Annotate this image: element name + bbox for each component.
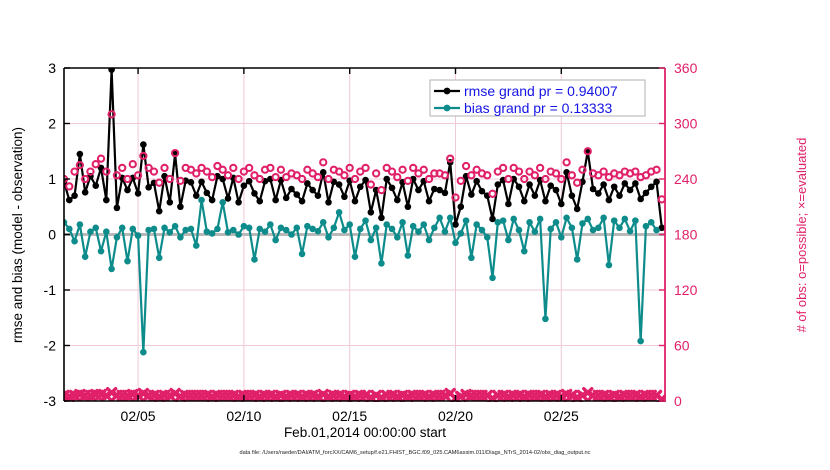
data-point (352, 253, 359, 260)
data-point (648, 183, 655, 190)
data-point (405, 252, 412, 259)
data-point (241, 182, 248, 189)
data-point (82, 253, 89, 260)
data-point (553, 219, 560, 226)
data-point (71, 238, 78, 245)
data-point (325, 199, 332, 206)
y-axis-label-right: # of obs: o=possible; ×=evaluated (794, 138, 809, 333)
data-point (272, 237, 279, 244)
data-point (442, 190, 449, 197)
data-point (145, 184, 152, 191)
data-point (632, 217, 639, 224)
data-point (336, 209, 343, 216)
data-point (315, 228, 322, 235)
data-point (368, 209, 375, 216)
data-point (547, 226, 554, 233)
data-point (193, 192, 200, 199)
data-point (209, 197, 216, 204)
data-point (574, 206, 581, 213)
data-point (616, 192, 623, 199)
data-point (124, 187, 131, 194)
data-point (251, 256, 258, 263)
data-point (590, 186, 597, 193)
data-point (621, 180, 628, 187)
data-point (103, 228, 110, 235)
data-point (479, 188, 486, 195)
data-point (431, 225, 438, 232)
data-point (140, 141, 147, 148)
data-point (193, 242, 200, 249)
data-point (293, 225, 300, 232)
data-point (352, 198, 359, 205)
data-point (336, 181, 343, 188)
data-point (447, 215, 454, 222)
data-point (378, 260, 385, 267)
data-point (267, 221, 274, 228)
data-point (373, 225, 380, 232)
data-point (606, 262, 613, 269)
data-point (463, 217, 470, 224)
data-point (595, 225, 602, 232)
data-point (579, 220, 586, 227)
data-point (479, 227, 486, 234)
data-point (246, 178, 253, 185)
data-point (167, 229, 174, 236)
x-axis-label: Feb.01,2014 00:00:00 start (284, 425, 446, 440)
y-tick-label-left: -2 (44, 338, 57, 354)
data-point (547, 182, 554, 189)
data-point (389, 226, 396, 233)
data-point (341, 193, 348, 200)
data-point (82, 189, 89, 196)
data-point (426, 237, 433, 244)
y-tick-label-right: 120 (674, 282, 698, 298)
data-point (357, 226, 364, 233)
data-point (214, 226, 221, 233)
footer-data-file: data file: /Users/raeder/DAI/ATM_forcXX/… (240, 450, 591, 456)
data-point (627, 228, 634, 235)
observation-diagnostics-figure: Southern Hemisphere 14493 / 14580 = 99.4… (0, 0, 830, 470)
data-point (124, 258, 131, 265)
data-point (383, 221, 390, 228)
data-point (500, 217, 507, 224)
data-point (452, 240, 459, 247)
data-point (653, 178, 660, 185)
data-point (151, 226, 158, 233)
data-point (542, 198, 549, 205)
data-point (331, 225, 338, 232)
y-tick-label-right: 180 (674, 227, 698, 243)
data-point (108, 266, 115, 273)
data-point (563, 215, 570, 222)
data-point (532, 228, 539, 235)
data-point (103, 197, 110, 204)
data-point (473, 178, 480, 185)
data-point (320, 219, 327, 226)
x-tick-label: 02/25 (544, 408, 579, 424)
x-tick-label: 02/10 (226, 408, 261, 424)
data-point (77, 221, 84, 228)
x-tick-label: 02/20 (438, 408, 473, 424)
data-point (553, 187, 560, 194)
data-point (177, 203, 184, 210)
legend[interactable]: rmse grand pr = 0.94007bias grand pr = 0… (430, 80, 645, 116)
data-point (198, 178, 205, 185)
x-tick-label: 02/05 (121, 408, 156, 424)
data-point (288, 231, 295, 238)
data-point (600, 215, 607, 222)
data-point (129, 226, 136, 233)
data-point (98, 248, 105, 255)
data-point (489, 274, 496, 281)
data-point (92, 225, 99, 232)
data-point (114, 234, 121, 241)
data-point (569, 192, 576, 199)
data-point (209, 230, 216, 237)
legend-marker-1 (444, 105, 451, 112)
data-point (299, 251, 306, 258)
data-point (505, 201, 512, 208)
data-point (653, 227, 660, 234)
data-point (521, 198, 528, 205)
y-tick-label-right: 60 (674, 338, 690, 354)
data-point (410, 223, 417, 230)
data-point (526, 219, 533, 226)
data-point (521, 248, 528, 255)
data-point (436, 215, 443, 222)
data-point (606, 197, 613, 204)
data-point (473, 221, 480, 228)
data-point (600, 181, 607, 188)
data-point (643, 190, 650, 197)
data-point (87, 228, 94, 235)
data-point (235, 231, 242, 238)
data-point (611, 217, 618, 224)
data-point (135, 190, 142, 197)
data-point (516, 183, 523, 190)
data-point (484, 234, 491, 241)
data-point (569, 225, 576, 232)
data-point (383, 176, 390, 183)
data-point (325, 234, 332, 241)
data-point (156, 255, 163, 262)
data-point (537, 216, 544, 223)
data-point (272, 197, 279, 204)
data-point (172, 223, 179, 230)
data-point (188, 179, 195, 186)
data-point (198, 197, 205, 204)
data-point (558, 234, 565, 241)
data-point (378, 215, 385, 222)
data-point (616, 225, 623, 232)
data-point (92, 182, 99, 189)
data-point (262, 228, 269, 235)
data-point (251, 190, 258, 197)
data-point (399, 219, 406, 226)
data-point (505, 237, 512, 244)
data-point (595, 190, 602, 197)
data-point (225, 195, 232, 202)
data-point (77, 151, 84, 158)
y-tick-label-right: 240 (674, 171, 698, 187)
data-point (637, 338, 644, 345)
legend-label-1[interactable]: bias grand pr = 0.13333 (464, 100, 612, 116)
legend-label-0[interactable]: rmse grand pr = 0.94007 (464, 83, 618, 99)
legend-marker-0 (444, 88, 451, 95)
data-point (114, 205, 121, 212)
data-point (246, 225, 253, 232)
data-point (510, 216, 517, 223)
y-tick-label-right: 0 (674, 393, 682, 409)
data-point (468, 191, 475, 198)
data-point (219, 199, 226, 206)
y-tick-label-right: 360 (674, 60, 698, 76)
data-point (542, 316, 549, 323)
data-point (119, 225, 126, 232)
data-point (156, 208, 163, 215)
data-point (637, 196, 644, 203)
data-point (161, 225, 168, 232)
data-point (368, 237, 375, 244)
data-point (66, 226, 73, 233)
data-point (235, 199, 242, 206)
data-point (288, 186, 295, 193)
y-tick-label-right: 300 (674, 116, 698, 132)
data-point (426, 198, 433, 205)
data-point (204, 190, 211, 197)
data-point (299, 198, 306, 205)
data-point (574, 256, 581, 263)
data-point (135, 232, 142, 239)
data-point (495, 181, 502, 188)
data-point (621, 216, 628, 223)
data-point (627, 187, 634, 194)
data-point (532, 192, 539, 199)
x-tick-label: 02/15 (332, 408, 367, 424)
data-point (283, 195, 290, 202)
data-point (457, 230, 464, 237)
data-point (643, 223, 650, 230)
data-point (394, 234, 401, 241)
data-point (468, 255, 475, 262)
data-point (394, 197, 401, 204)
data-point (389, 185, 396, 192)
data-point (346, 221, 353, 228)
y-tick-label-left: 0 (48, 227, 56, 243)
data-point (442, 228, 449, 235)
data-point (420, 221, 427, 228)
data-point (558, 201, 565, 208)
data-point (293, 191, 300, 198)
data-point (516, 227, 523, 234)
data-point (283, 227, 290, 234)
data-point (230, 227, 237, 234)
data-point (71, 192, 78, 199)
data-point (632, 180, 639, 187)
y-tick-label-left: -1 (44, 282, 57, 298)
data-point (140, 349, 147, 356)
data-point (309, 187, 316, 194)
y-axis-label-left: rmse and bias (model - observation) (10, 127, 25, 343)
data-point (188, 226, 195, 233)
data-point (362, 217, 369, 224)
data-point (648, 219, 655, 226)
y-tick-label-left: 1 (48, 171, 56, 187)
data-point (177, 234, 184, 241)
data-point (584, 216, 591, 223)
data-point (405, 203, 412, 210)
data-point (357, 183, 364, 190)
data-point (256, 198, 263, 205)
data-point (341, 227, 348, 234)
y-tick-label-left: 2 (48, 116, 56, 132)
data-point (415, 187, 422, 194)
data-point (526, 181, 533, 188)
data-point (415, 228, 422, 235)
y-tick-label-left: -3 (44, 393, 57, 409)
data-point (315, 192, 322, 199)
data-point (66, 197, 73, 204)
y-tick-label-left: 3 (48, 60, 56, 76)
data-point (611, 183, 618, 190)
data-point (167, 199, 174, 206)
data-point (457, 203, 464, 210)
